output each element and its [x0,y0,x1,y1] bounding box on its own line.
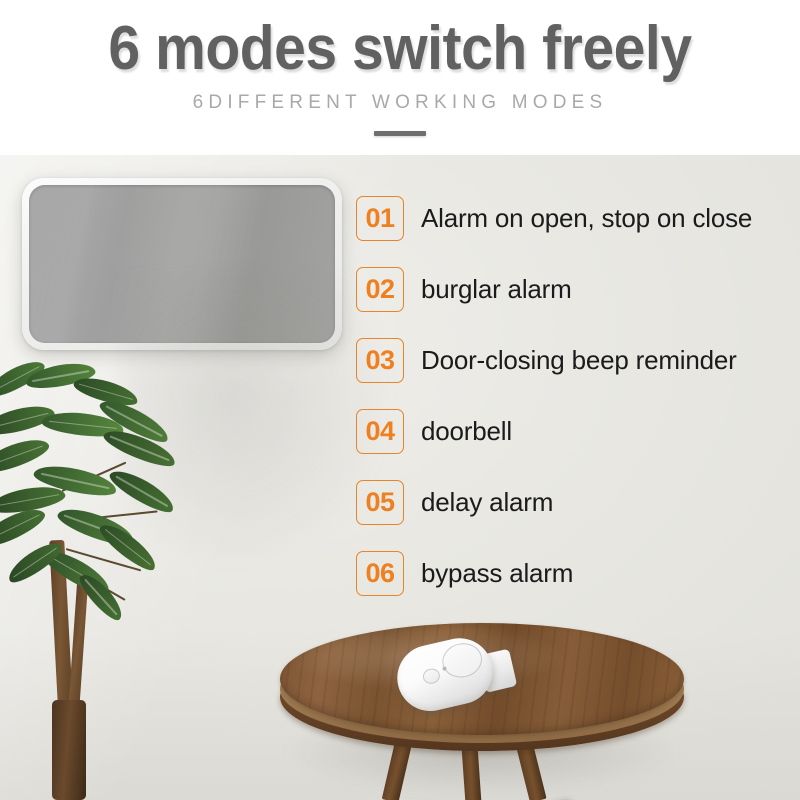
mode-item-05: 05 delay alarm [356,467,800,538]
mode-label: burglar alarm [421,275,572,304]
mode-item-02: 02 burglar alarm [356,254,800,325]
alarm-button [421,667,441,685]
mode-number-badge: 02 [356,267,404,312]
mode-number-badge: 03 [356,338,404,383]
mode-number-badge: 06 [356,551,404,596]
title-divider [374,131,426,136]
product-infographic: 6 modes switch freely 6DIFFERENT WORKING… [0,0,800,800]
money-tree-plant [0,370,232,800]
header-banner: 6 modes switch freely 6DIFFERENT WORKING… [0,0,800,155]
mode-label: bypass alarm [421,559,573,588]
mode-number-badge: 04 [356,409,404,454]
mode-item-01: 01 Alarm on open, stop on close [356,183,800,254]
page-title: 6 modes switch freely [32,18,768,80]
mode-label: doorbell [421,417,512,446]
mode-label: delay alarm [421,488,553,517]
mode-number-badge: 01 [356,196,404,241]
plant-braided-trunk [52,700,86,800]
mode-item-04: 04 doorbell [356,396,800,467]
mode-label: Alarm on open, stop on close [421,204,752,233]
alarm-speaker-grille [439,639,486,681]
mode-number-badge: 05 [356,480,404,525]
page-subtitle: 6DIFFERENT WORKING MODES [0,93,800,112]
mirror-glass [29,185,335,343]
wall-mirror [22,178,342,350]
mirror-sheen [29,185,335,343]
mode-item-06: 06 bypass alarm [356,538,800,609]
mode-item-03: 03 Door-closing beep reminder [356,325,800,396]
modes-list: 01 Alarm on open, stop on close 02 burgl… [356,183,800,609]
plant-leaf [106,464,179,518]
mode-label: Door-closing beep reminder [421,346,737,375]
